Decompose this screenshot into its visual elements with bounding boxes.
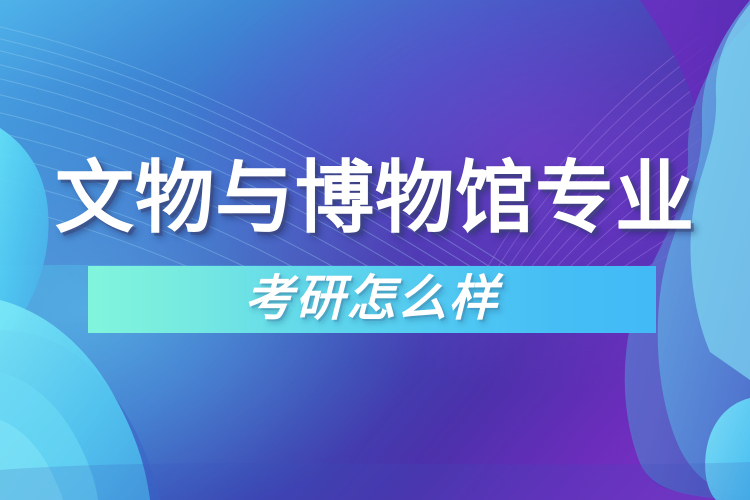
banner-headline: 文物与博物馆专业 [0,152,750,244]
banner-content: 文物与博物馆专业 考研怎么样 [0,0,750,500]
promo-banner: 文物与博物馆专业 考研怎么样 [0,0,750,500]
banner-subtitle: 考研怎么样 [88,266,656,333]
